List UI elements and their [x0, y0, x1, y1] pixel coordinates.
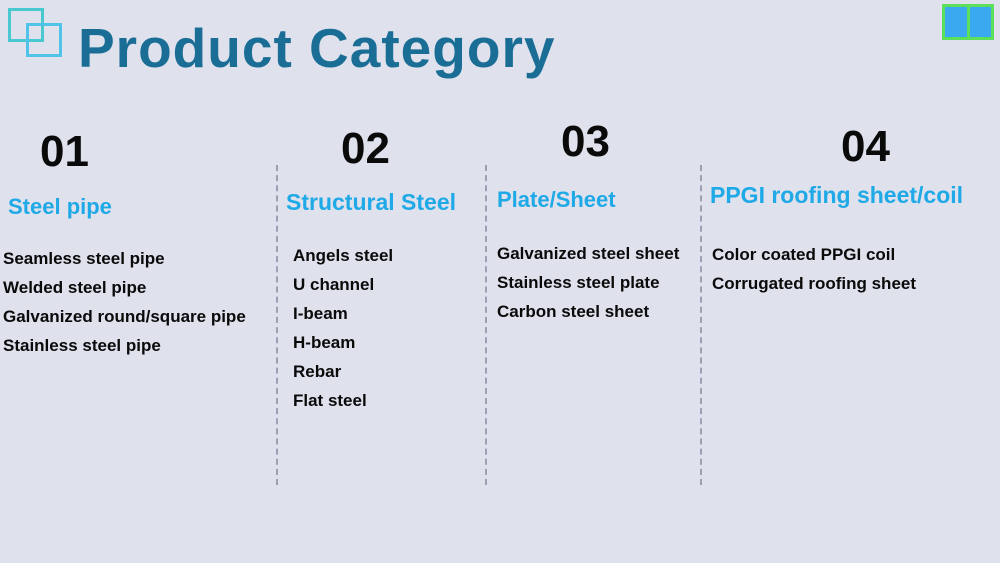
category-heading-2: Structural Steel: [286, 191, 456, 214]
category-list-4: Color coated PPGI coil Corrugated roofin…: [712, 240, 916, 298]
list-item: Stainless steel pipe: [3, 331, 246, 360]
corner-badge-half-right: [970, 7, 992, 37]
category-number-3: 03: [561, 120, 610, 164]
list-item: H-beam: [293, 328, 393, 357]
category-heading-1: Steel pipe: [8, 196, 112, 218]
column-divider-2: [485, 165, 487, 485]
category-list-2: Angels steel U channel I-beam H-beam Reb…: [293, 241, 393, 415]
logo-square-front: [26, 23, 62, 57]
list-item: Galvanized round/square pipe: [3, 302, 246, 331]
list-item: U channel: [293, 270, 393, 299]
list-item: Angels steel: [293, 241, 393, 270]
list-item: Color coated PPGI coil: [712, 240, 916, 269]
category-list-3: Galvanized steel sheet Stainless steel p…: [497, 239, 679, 326]
list-item: Galvanized steel sheet: [497, 239, 679, 268]
list-item: Rebar: [293, 357, 393, 386]
list-item: I-beam: [293, 299, 393, 328]
list-item: Welded steel pipe: [3, 273, 246, 302]
category-number-1: 01: [40, 130, 89, 174]
page-title: Product Category: [78, 18, 555, 79]
category-number-4: 04: [841, 125, 890, 169]
column-divider-3: [700, 165, 702, 485]
list-item: Carbon steel sheet: [497, 297, 679, 326]
corner-badge-icon: [942, 4, 994, 40]
product-category-slide: Product Category 01 Steel pipe Seamless …: [0, 0, 1000, 563]
list-item: Stainless steel plate: [497, 268, 679, 297]
list-item: Corrugated roofing sheet: [712, 269, 916, 298]
overlapping-squares-logo-icon: [8, 8, 66, 62]
category-heading-4: PPGI roofing sheet/coil: [710, 184, 963, 207]
corner-badge-half-left: [945, 7, 970, 37]
category-list-1: Seamless steel pipe Welded steel pipe Ga…: [3, 244, 246, 360]
column-divider-1: [276, 165, 278, 485]
list-item: Flat steel: [293, 386, 393, 415]
category-number-2: 02: [341, 127, 390, 171]
category-heading-3: Plate/Sheet: [497, 189, 616, 211]
list-item: Seamless steel pipe: [3, 244, 246, 273]
